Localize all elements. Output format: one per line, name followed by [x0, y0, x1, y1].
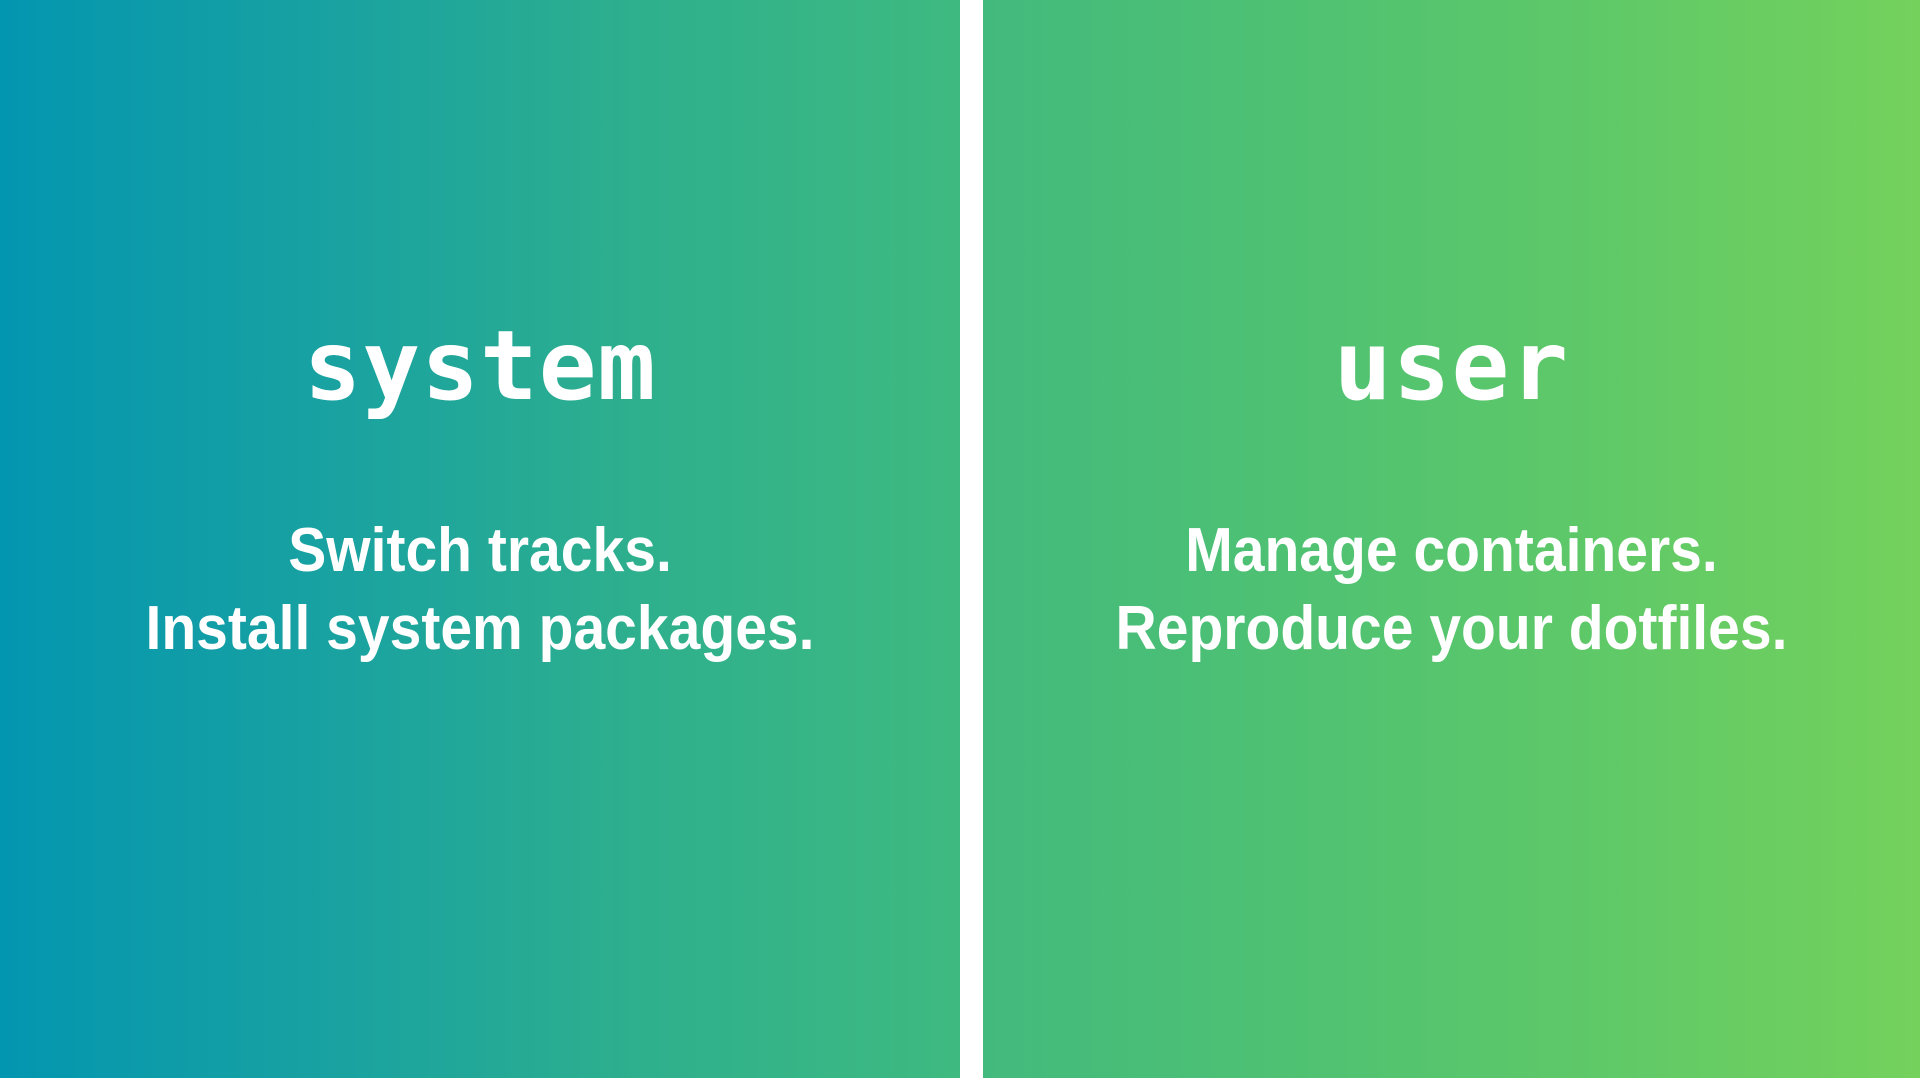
panel-system-subtitle-line-1: Switch tracks.: [60, 512, 899, 590]
panel-system-subtitle: Switch tracks. Install system packages.: [38, 512, 921, 668]
panel-system[interactable]: system Switch tracks. Install system pac…: [0, 0, 960, 1080]
panel-system-subtitle-line-2: Install system packages.: [60, 590, 899, 668]
panel-user[interactable]: user Manage containers. Reproduce your d…: [983, 0, 1920, 1080]
panel-user-heading: user: [983, 318, 1920, 414]
panel-user-subtitle-line-1: Manage containers.: [1043, 512, 1861, 590]
panel-divider: [960, 0, 983, 1080]
panel-system-heading: system: [0, 318, 960, 414]
panel-user-subtitle-line-2: Reproduce your dotfiles.: [1043, 590, 1861, 668]
two-panel-stage: system Switch tracks. Install system pac…: [0, 0, 1920, 1080]
panel-user-subtitle: Manage containers. Reproduce your dotfil…: [1020, 512, 1882, 668]
